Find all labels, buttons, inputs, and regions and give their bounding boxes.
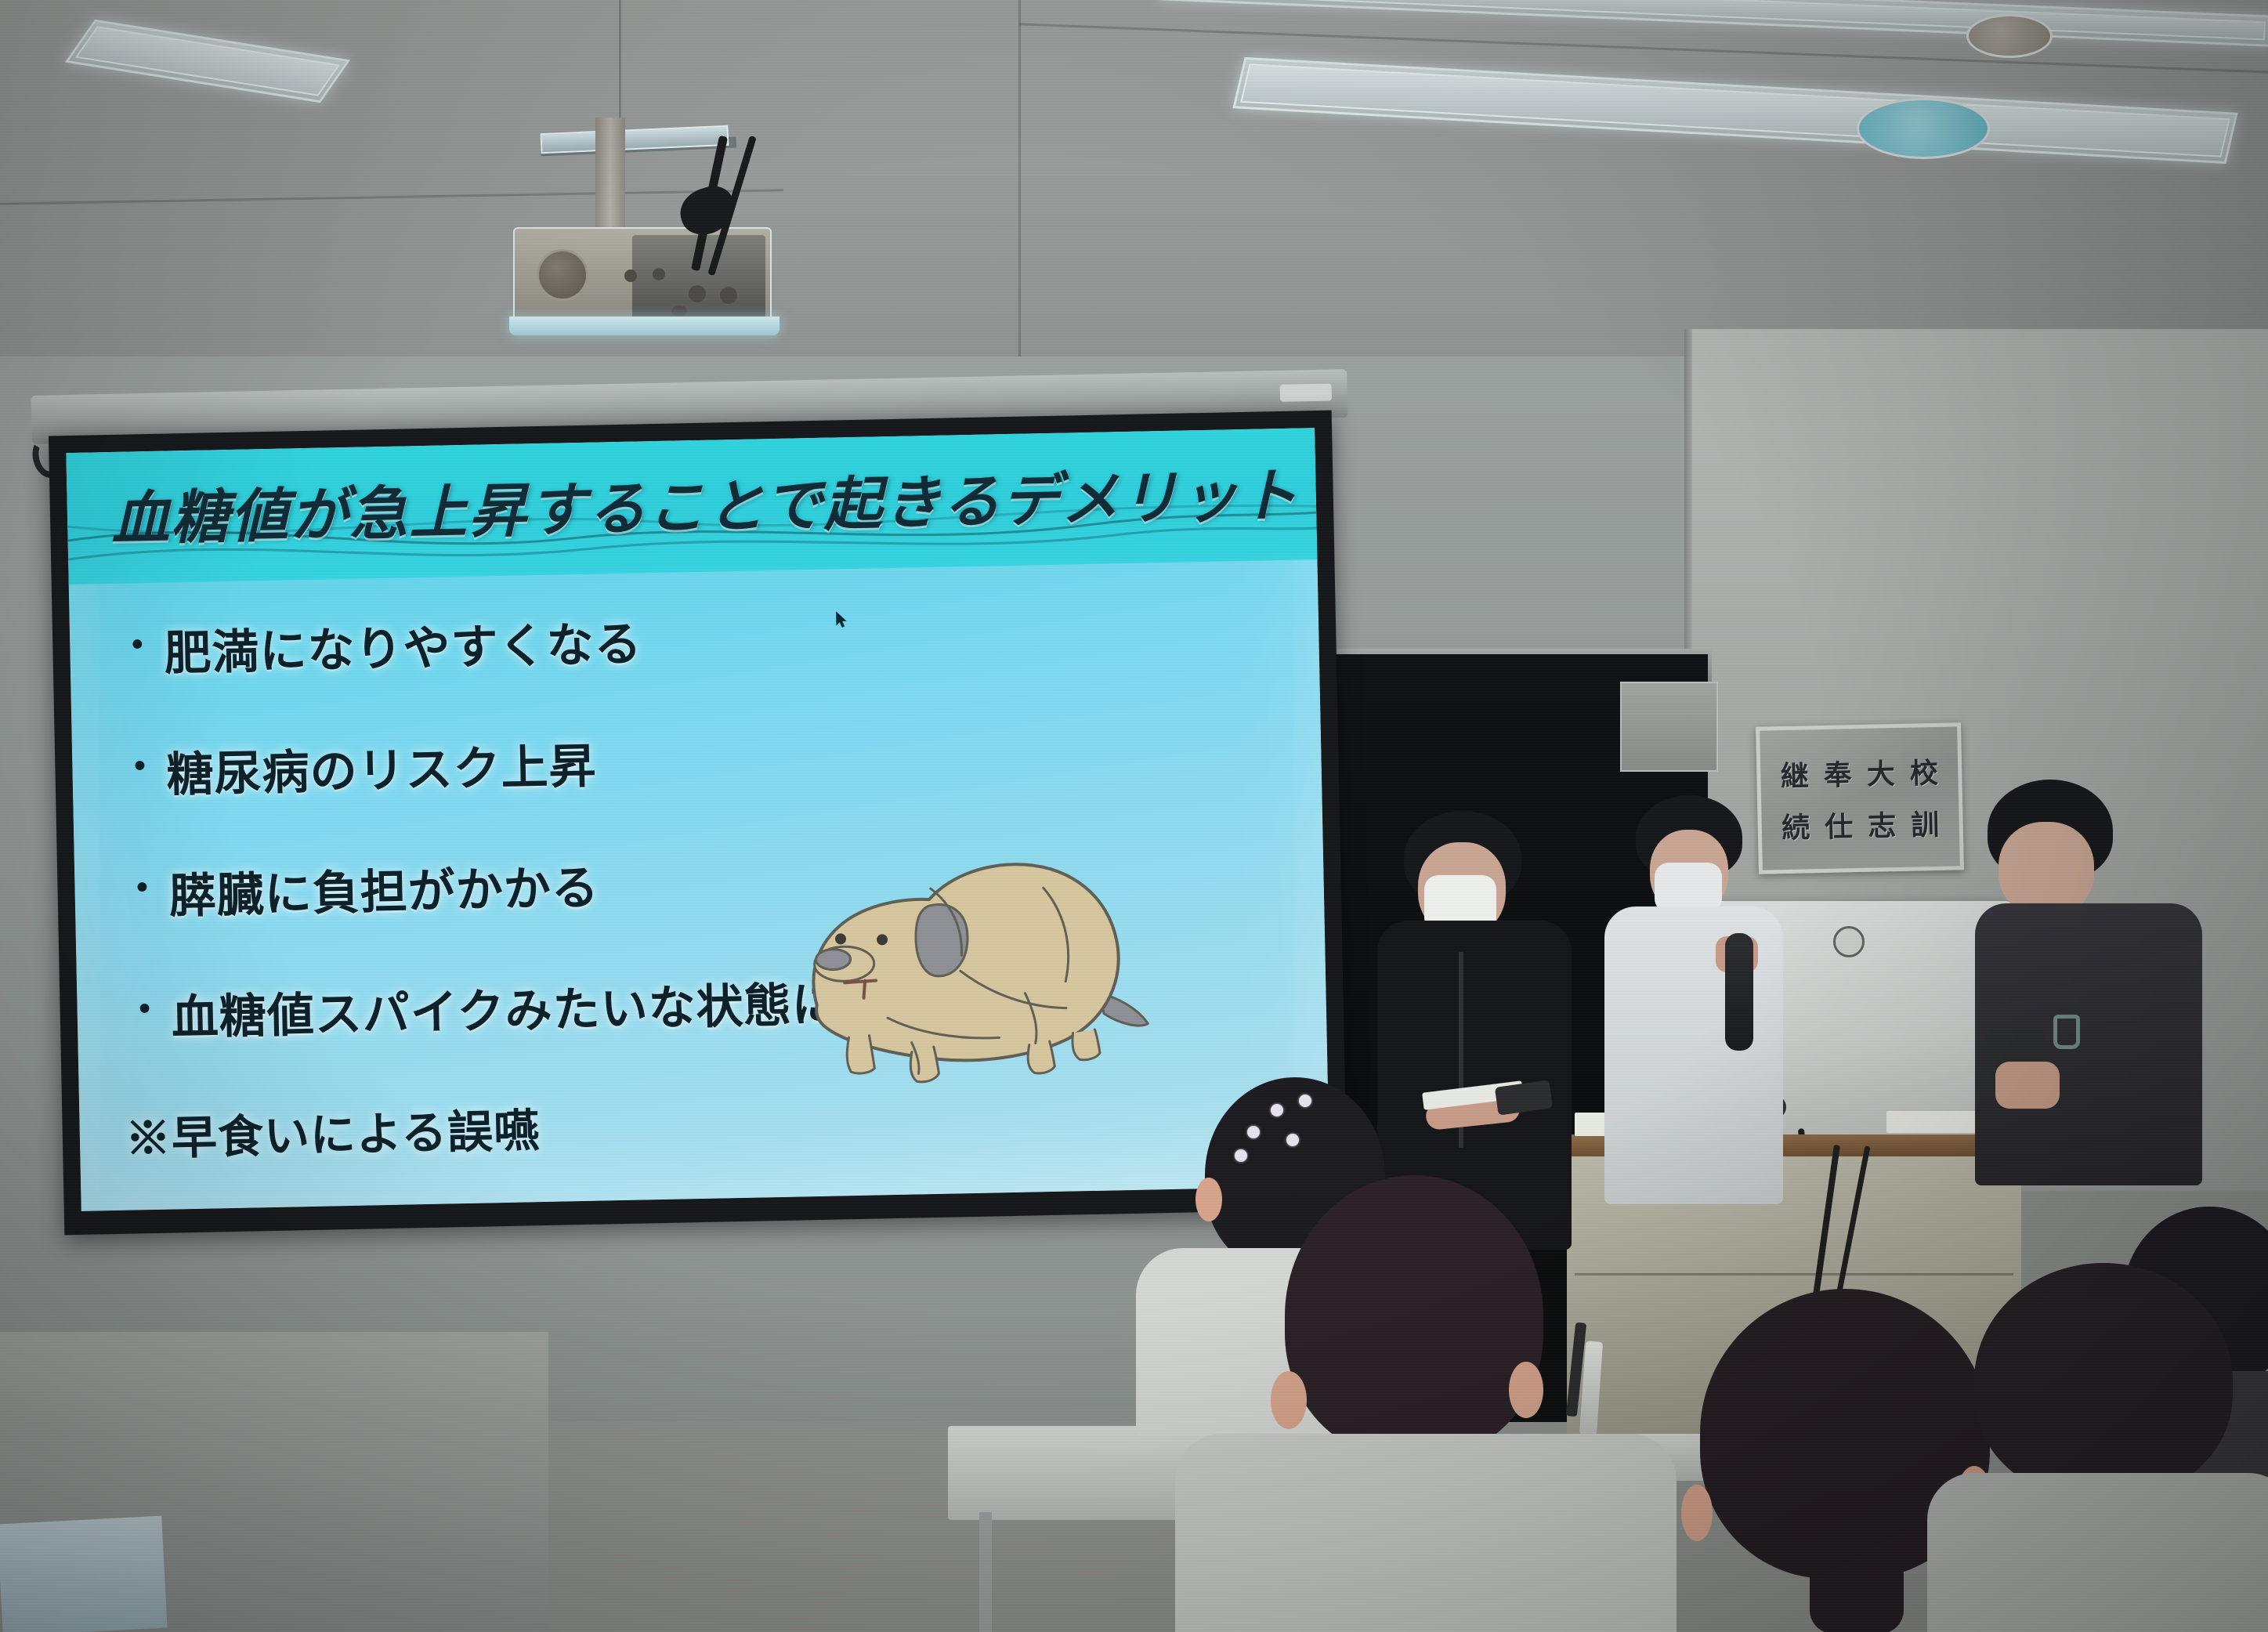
audience-gray-hoodie bbox=[1951, 1263, 2268, 1632]
bullet-text: 膵臓に負担がかかる bbox=[168, 850, 600, 927]
projector-lens-shroud bbox=[509, 317, 780, 335]
bullet-text: 肥満になりやすくなる bbox=[164, 606, 643, 683]
bullet-marker-icon: ・ bbox=[122, 988, 167, 1033]
ear bbox=[1681, 1485, 1713, 1541]
hair-clip-icon bbox=[1299, 1095, 1311, 1107]
plaque-char: 大 bbox=[1866, 751, 1895, 793]
plaque-char: 志 bbox=[1868, 803, 1897, 845]
ear bbox=[1509, 1362, 1543, 1418]
hair-clip-icon bbox=[1271, 1104, 1283, 1116]
ceiling-speaker bbox=[1966, 14, 2053, 58]
hair-clip-icon bbox=[1235, 1149, 1247, 1162]
projector-vent bbox=[720, 287, 737, 304]
ceiling-speaker bbox=[1857, 98, 1990, 159]
ceiling-seam bbox=[619, 0, 621, 125]
door-upper-panel bbox=[1620, 682, 1718, 772]
face-mask bbox=[1655, 863, 1722, 913]
hair-clip-icon bbox=[1247, 1126, 1260, 1138]
hoodie-shoulders bbox=[1927, 1473, 2268, 1632]
hand bbox=[1995, 1062, 2060, 1109]
ceiling-projector bbox=[513, 227, 772, 321]
audience-ponytail-center bbox=[1222, 1175, 1677, 1632]
bullet-marker-icon: ・ bbox=[115, 624, 160, 668]
classroom-scene: 継 奉 大 校 続 仕 志 訓 bbox=[0, 0, 2268, 1632]
plaque-char: 仕 bbox=[1825, 804, 1854, 845]
plaque-char: 訓 bbox=[1911, 802, 1940, 844]
list-item: ・ 糖尿病のリスク上昇 bbox=[118, 721, 965, 806]
plaque-row-top: 継 奉 大 校 bbox=[1773, 751, 1946, 795]
plaque-row-bottom: 続 仕 志 訓 bbox=[1774, 802, 1947, 847]
bullet-marker-icon: ・ bbox=[118, 745, 162, 790]
mouse-cursor-icon bbox=[836, 611, 847, 628]
presenter-microphone bbox=[1598, 795, 1794, 1203]
ear bbox=[1195, 1178, 1222, 1221]
ponytail bbox=[1810, 1524, 1904, 1632]
front-table bbox=[0, 1516, 168, 1632]
dell-logo-icon bbox=[1833, 926, 1865, 957]
projector-mount bbox=[595, 118, 625, 235]
slide-title-band: 血糖値が急上昇することで起きるデメリット bbox=[66, 428, 1317, 584]
ceiling bbox=[0, 0, 2268, 368]
fat-dog-illustration bbox=[790, 837, 1163, 1087]
projector-vent bbox=[624, 270, 637, 282]
desk-leg bbox=[979, 1512, 992, 1632]
projector-vent bbox=[671, 306, 687, 317]
projector-vent bbox=[689, 285, 706, 302]
bullet-marker-icon: ・ bbox=[120, 867, 165, 911]
slide-note: ※早食いによる誤嚥 bbox=[125, 1085, 971, 1168]
ear bbox=[1271, 1371, 1307, 1429]
projected-slide: 血糖値が急上昇することで起きるデメリット ・ 肥満になりやすくなる ・ 糖尿病の… bbox=[66, 428, 1329, 1211]
hair-clip-icon bbox=[1286, 1134, 1299, 1146]
projector-vent bbox=[653, 268, 665, 280]
presenter-phone bbox=[1978, 780, 2213, 1187]
plaque-char: 継 bbox=[1780, 753, 1809, 794]
dog-icon bbox=[790, 837, 1163, 1087]
handheld-microphone bbox=[1725, 933, 1753, 1051]
roller-end-cap bbox=[1280, 384, 1332, 402]
sweatshirt-logo-icon bbox=[2053, 1015, 2080, 1049]
head bbox=[1974, 1263, 2233, 1498]
plaque-char: 奉 bbox=[1823, 752, 1852, 794]
ceiling-seam bbox=[1018, 0, 1021, 368]
projection-screen: 血糖値が急上昇することで起きるデメリット ・ 肥満になりやすくなる ・ 糖尿病の… bbox=[49, 411, 1347, 1236]
bullet-text: 糖尿病のリスク上昇 bbox=[166, 729, 598, 805]
screen-surface: 血糖値が急上昇することで起きるデメリット ・ 肥満になりやすくなる ・ 糖尿病の… bbox=[66, 428, 1329, 1211]
plaque-char: 校 bbox=[1909, 751, 1938, 792]
projector-lens-icon bbox=[537, 249, 588, 301]
shoulders bbox=[1175, 1434, 1677, 1632]
